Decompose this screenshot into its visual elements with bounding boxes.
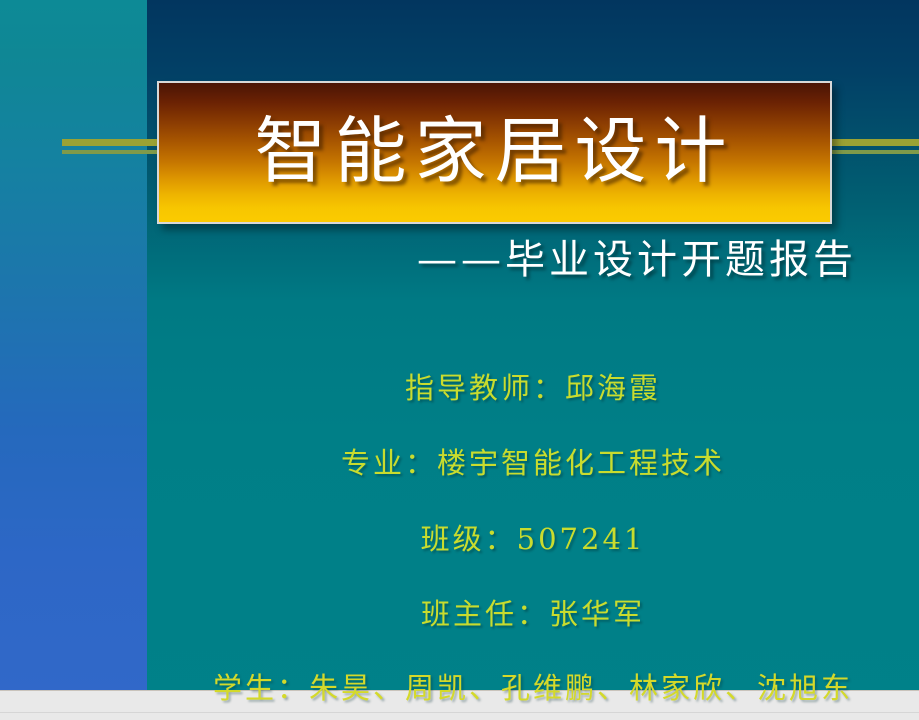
slide-title: 智能家居设计 (254, 115, 734, 187)
accent-rule-right-thick (830, 139, 919, 146)
accent-rule-left-thick (62, 139, 166, 146)
info-line-major: 专业：楼宇智能化工程技术 (147, 447, 919, 480)
presentation-slide: 智能家居设计 ——毕业设计开题报告 指导教师：邱海霞 专业：楼宇智能化工程技术 … (0, 0, 919, 720)
accent-rule-right-thin (830, 150, 919, 154)
info-line-students: 学生：朱昊、周凯、孔维鹏、林家欣、沈旭东 (147, 672, 919, 705)
left-accent-band (0, 0, 147, 695)
info-line-head-teacher: 班主任：张华军 (147, 598, 919, 631)
accent-rule-left-thin (62, 150, 166, 154)
info-line-advisor: 指导教师：邱海霞 (147, 372, 919, 405)
slide-subtitle: ——毕业设计开题报告 (0, 236, 857, 284)
info-line-class: 班级：507241 (147, 523, 919, 556)
info-block: 指导教师：邱海霞 专业：楼宇智能化工程技术 班级：507241 班主任：张华军 (147, 372, 919, 631)
title-plaque: 智能家居设计 (157, 81, 832, 224)
